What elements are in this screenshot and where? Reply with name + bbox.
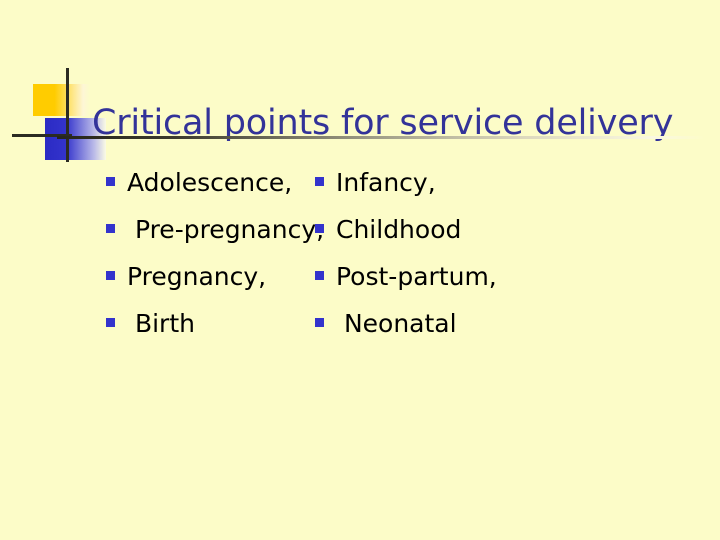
list-item: Pre-pregnancy, [106,215,305,262]
content-area: Adolescence, Pre-pregnancy, Pregnancy, B… [0,168,720,356]
square-bullet-icon [315,177,324,186]
slide-logo-graphic [0,0,120,115]
left-bullet-column: Adolescence, Pre-pregnancy, Pregnancy, B… [0,168,305,356]
list-item: Infancy, [315,168,610,215]
square-bullet-icon [106,318,115,327]
list-item-label: Pre-pregnancy, [127,215,324,245]
title-divider [57,136,705,139]
square-bullet-icon [315,271,324,280]
list-item-label: Pregnancy, [127,262,266,292]
list-item-label: Neonatal [336,309,457,339]
list-item: Adolescence, [106,168,305,215]
slide-canvas: Critical points for service delivery Ado… [0,0,720,540]
right-bullet-column: Infancy, Childhood Post-partum, Neonatal [305,168,610,356]
list-item-label: Birth [127,309,195,339]
square-bullet-icon [315,318,324,327]
list-item: Pregnancy, [106,262,305,309]
list-item-label: Post-partum, [336,262,497,292]
square-bullet-icon [315,224,324,233]
list-item: Birth [106,309,305,356]
square-bullet-icon [106,177,115,186]
list-item-label: Infancy, [336,168,436,198]
square-bullet-icon [106,271,115,280]
list-item: Post-partum, [315,262,610,309]
list-item: Neonatal [315,309,610,356]
square-bullet-icon [106,224,115,233]
list-item-label: Adolescence, [127,168,292,198]
vertical-line-icon [66,68,69,162]
list-item-label: Childhood [336,215,461,245]
list-item: Childhood [315,215,610,262]
